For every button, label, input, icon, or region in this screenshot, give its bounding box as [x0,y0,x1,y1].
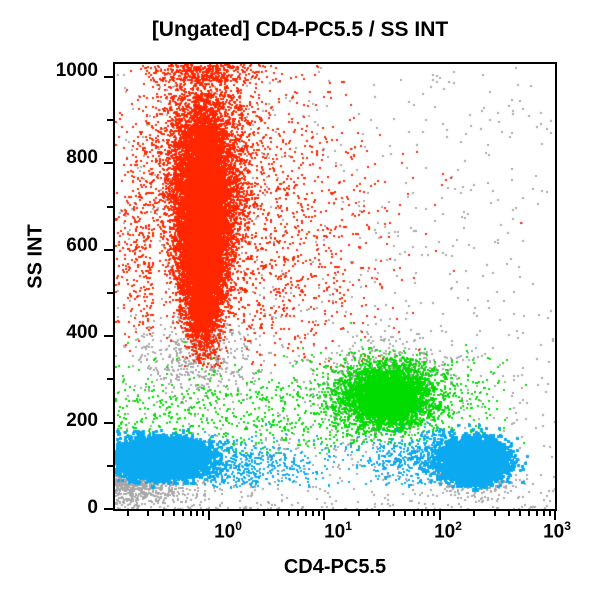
x-minor-tick [421,511,423,516]
x-tick-mantissa: 10 [434,521,455,542]
x-major-tick [439,511,441,520]
x-minor-tick [277,511,279,516]
x-minor-tick [182,511,184,516]
x-minor-tick [147,511,149,516]
x-minor-tick [305,511,307,516]
x-minor-tick [173,511,175,516]
x-minor-tick [196,511,198,516]
x-major-tick [208,511,210,520]
x-minor-tick [508,511,510,516]
x-minor-tick [190,511,192,516]
x-axis-label: CD4-PC5.5 [113,556,557,579]
y-tick-label-1000: 1000 [38,60,98,82]
x-major-tick [323,511,325,520]
y-tick-label-800: 800 [38,147,98,169]
x-minor-tick [413,511,415,516]
x-minor-tick [297,511,299,516]
x-minor-tick [378,511,380,516]
x-minor-tick [263,511,265,516]
x-minor-tick [127,511,129,516]
x-minor-tick [312,511,314,516]
x-minor-tick [494,511,496,516]
x-tick-mantissa: 10 [324,521,345,542]
x-tick-label-1e3: 103 [522,519,592,543]
x-minor-tick [473,511,475,516]
scatter-plot-canvas [115,64,555,509]
x-minor-tick [358,511,360,516]
x-minor-tick [242,511,244,516]
x-tick-exponent: 2 [455,519,462,533]
x-minor-tick [549,511,551,516]
x-minor-tick [536,511,538,516]
y-tick-label-400: 400 [38,322,98,344]
y-major-tick [104,335,113,337]
x-minor-tick [433,511,435,516]
y-major-tick [104,76,113,78]
x-tick-mantissa: 10 [214,521,235,542]
y-tick-label-0: 0 [38,497,98,519]
x-minor-tick [288,511,290,516]
y-major-tick [104,249,113,251]
plot-area[interactable] [113,62,557,511]
x-major-tick [554,511,556,520]
x-minor-tick [393,511,395,516]
page-title: [Ungated] CD4-PC5.5 / SS INT [0,18,600,42]
flow-cytometry-figure: [Ungated] CD4-PC5.5 / SS INT SS INT 1000… [0,0,600,600]
x-tick-exponent: 1 [345,519,352,533]
x-tick-label-1e1: 101 [303,519,373,543]
y-major-tick [104,508,113,510]
y-major-tick [104,162,113,164]
x-minor-tick [427,511,429,516]
x-minor-tick [202,511,204,516]
x-tick-mantissa: 10 [543,521,564,542]
y-major-tick [104,422,113,424]
y-tick-label-200: 200 [38,410,98,432]
x-minor-tick [519,511,521,516]
x-minor-tick [404,511,406,516]
x-minor-tick [318,511,320,516]
x-minor-tick [543,511,545,516]
x-tick-label-1e0: 100 [193,519,263,543]
x-tick-label-1e2: 102 [413,519,483,543]
y-tick-label-600: 600 [38,235,98,257]
x-minor-tick [162,511,164,516]
x-tick-exponent: 0 [235,519,242,533]
x-tick-exponent: 3 [564,519,571,533]
x-minor-tick [528,511,530,516]
